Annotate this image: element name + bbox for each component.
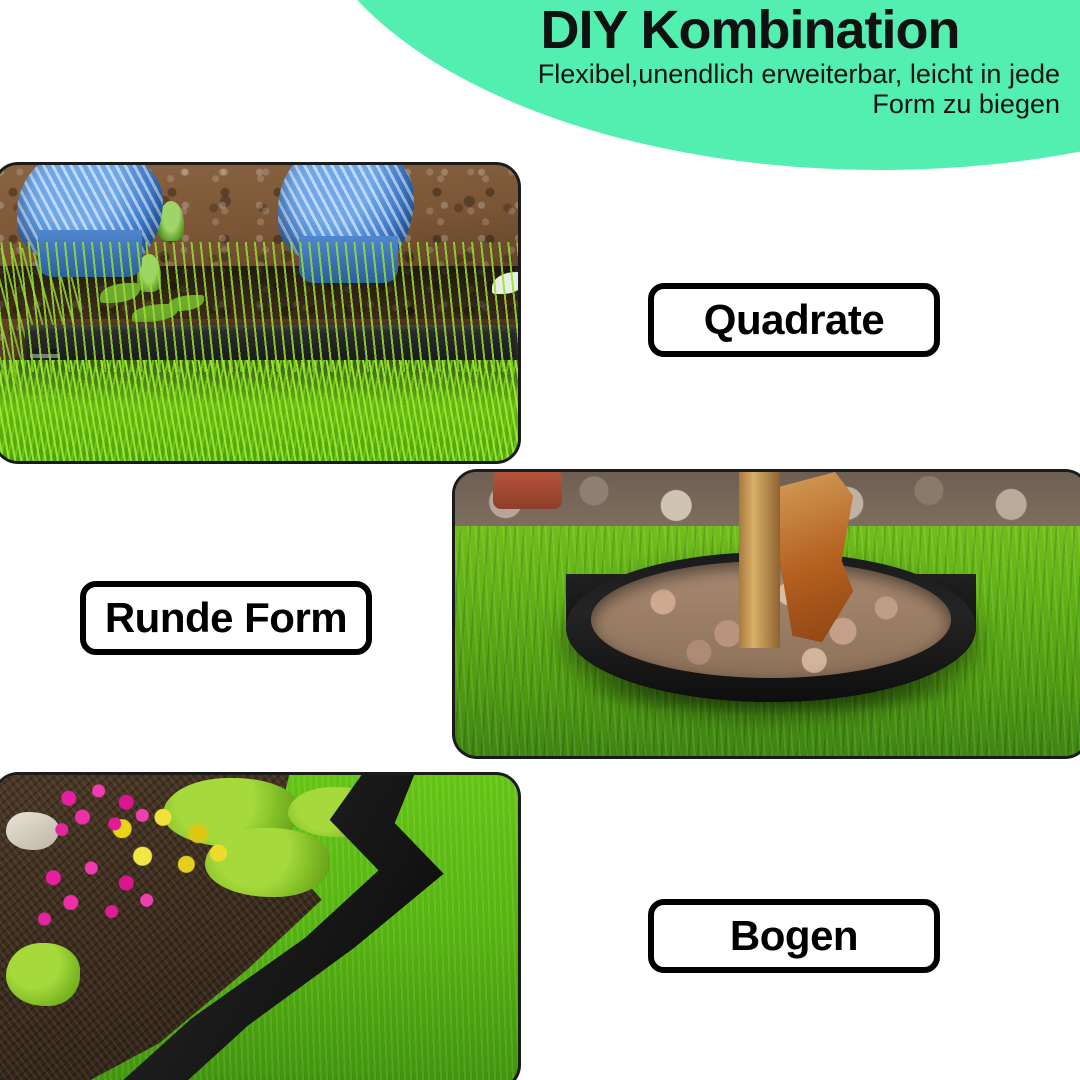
pink-flowers xyxy=(48,784,163,840)
callout-label-bogen-text: Bogen xyxy=(730,915,858,957)
scene-round xyxy=(455,472,1080,756)
banner-text-block: DIY Kombination Flexibel,unendlich erwei… xyxy=(440,2,1060,120)
photo-square-edging xyxy=(0,165,518,461)
scene-curve xyxy=(0,775,518,1080)
page-title: DIY Kombination xyxy=(440,2,1060,58)
shrub xyxy=(6,943,79,1005)
scene-square xyxy=(0,165,518,461)
wooden-post xyxy=(739,472,780,648)
callout-label-runde-form: Runde Form xyxy=(80,581,372,655)
callout-label-quadrate: Quadrate xyxy=(648,283,940,357)
photo-round-edging xyxy=(455,472,1080,756)
subtitle-line-1: Flexibel,unendlich erweiterbar, leicht i… xyxy=(538,59,1060,89)
pink-flowers xyxy=(27,859,173,934)
photo-curved-edging xyxy=(0,775,518,1080)
callout-label-bogen: Bogen xyxy=(648,899,940,973)
callout-label-runde-form-text: Runde Form xyxy=(105,597,347,639)
grass-tips xyxy=(0,242,518,372)
lawn-grass xyxy=(0,360,518,461)
infographic-canvas: DIY Kombination Flexibel,unendlich erwei… xyxy=(0,0,1080,1080)
banner-subtitle: Flexibel,unendlich erweiterbar, leicht i… xyxy=(440,59,1060,119)
terracotta-pot xyxy=(493,472,563,509)
callout-label-quadrate-text: Quadrate xyxy=(704,299,884,341)
subtitle-line-2: Form zu biegen xyxy=(440,89,1060,119)
